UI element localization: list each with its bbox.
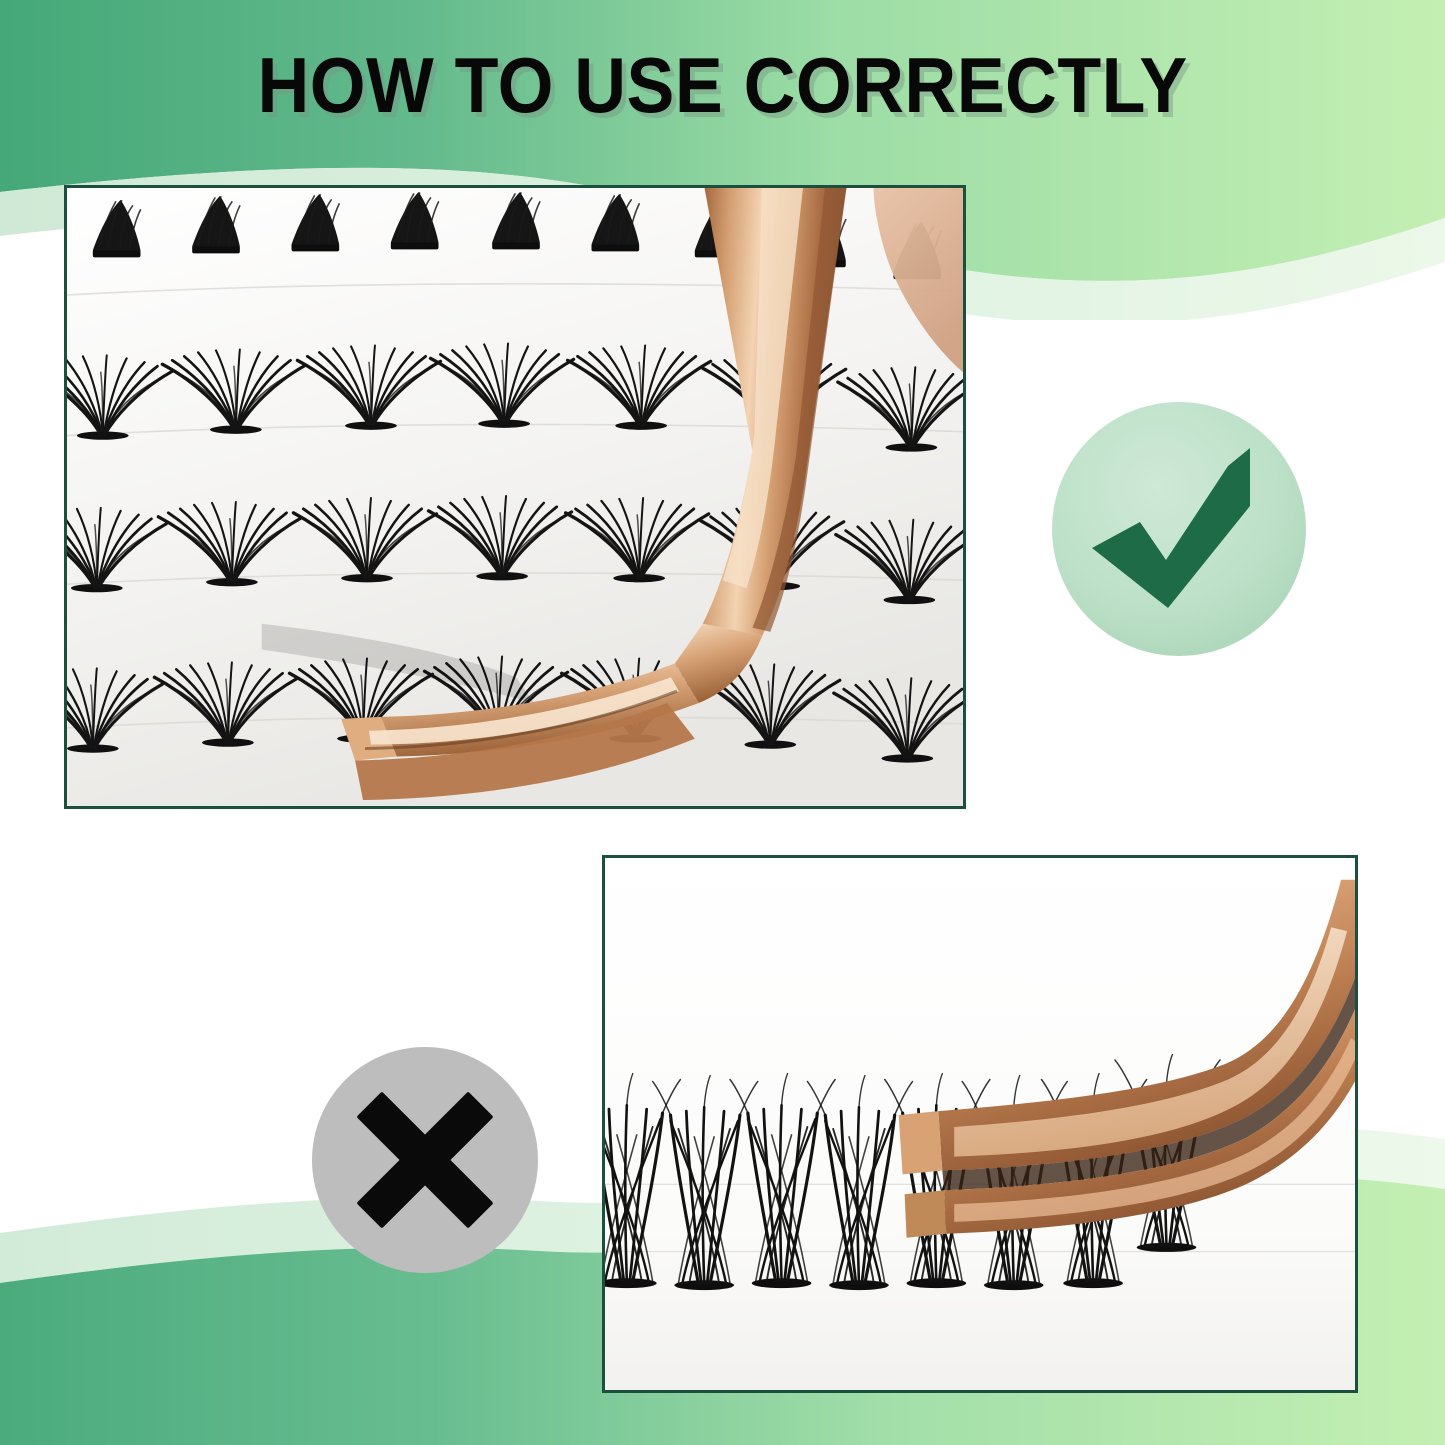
photo-incorrect-usage (602, 855, 1358, 1393)
photo-correct-usage (64, 185, 966, 809)
title-block: HOW TO USE CORRECTLY (0, 48, 1445, 122)
page-title: HOW TO USE CORRECTLY (257, 48, 1187, 122)
photo-correct-usage-image (67, 188, 963, 806)
check-circle-background (1052, 402, 1306, 656)
infographic-root: HOW TO USE CORRECTLY (0, 0, 1445, 1445)
badge-correct (1050, 400, 1308, 658)
photo-incorrect-usage-image (605, 858, 1355, 1390)
check-icon (1050, 400, 1308, 658)
cross-icon (310, 1045, 540, 1275)
badge-wrong (310, 1045, 540, 1275)
